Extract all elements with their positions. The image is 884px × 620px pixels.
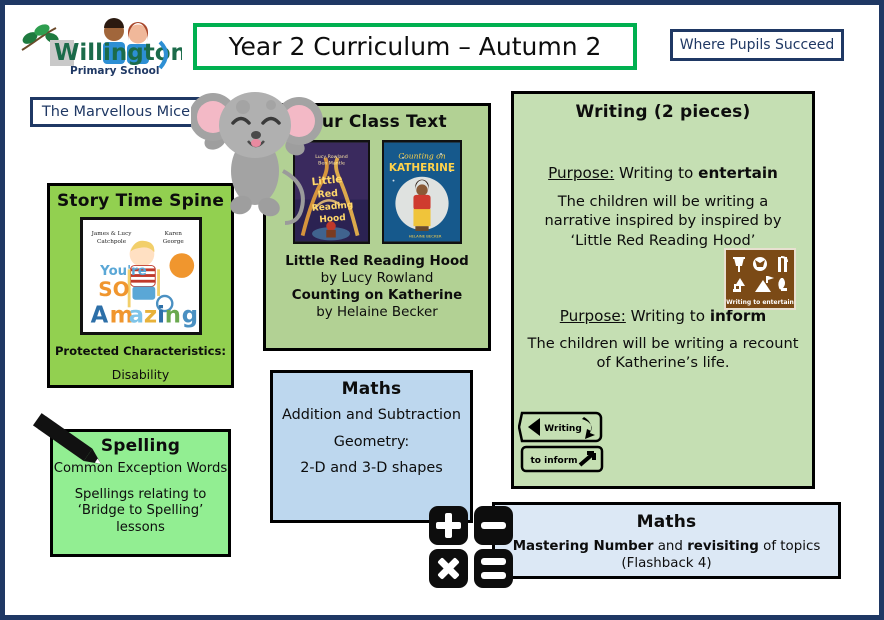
- writing-purpose-label-2: Purpose:: [560, 307, 626, 325]
- logo-subtitle: Primary School: [70, 65, 159, 77]
- maths-bottom-title: Maths: [495, 512, 838, 532]
- story-book-cover-wrap: James & Lucy Catchpole Karen George You'…: [50, 217, 231, 335]
- svg-text:George: George: [162, 239, 184, 245]
- book-cover-youre-so-amazing: James & Lucy Catchpole Karen George You'…: [80, 217, 202, 335]
- pencil-icon: [27, 413, 113, 475]
- maths-bottom-line-0: Mastering Number and revisiting of topic…: [495, 538, 838, 555]
- writing-purpose-label-1: Purpose:: [548, 164, 614, 182]
- panel-maths-middle: Maths Addition and Subtraction Geometry:…: [270, 370, 473, 523]
- maths-bottom-end: of topics: [759, 539, 820, 554]
- svg-text:SO: SO: [98, 278, 129, 301]
- curriculum-poster: Willington Primary School Year 2 Curricu…: [0, 0, 884, 620]
- spelling-line-1: Spellings relating to ‘Bridge to Spellin…: [53, 487, 228, 537]
- class-text-caption-line-0: Little Red Reading Hood: [266, 253, 488, 270]
- svg-text:You're: You're: [99, 264, 147, 279]
- writing-purpose-prefix-1: Writing to: [614, 164, 698, 182]
- writing-piece1-purpose: Purpose: Writing to entertain: [524, 164, 802, 182]
- svg-text:Karen: Karen: [164, 231, 182, 237]
- maths-bottom-bold-2: revisiting: [687, 539, 759, 554]
- maths-middle-line-2: 2-D and 3-D shapes: [273, 455, 470, 482]
- svg-text:i: i: [157, 303, 165, 329]
- protected-characteristics-label: Protected Characteristics:: [50, 344, 231, 358]
- school-logo-graphic: Willington Primary School: [14, 14, 182, 80]
- entertain-sign-caption: Writing to entertain: [726, 299, 794, 306]
- svg-text:Catchpole: Catchpole: [97, 239, 127, 245]
- svg-text:Counting on: Counting on: [398, 152, 445, 161]
- class-text-caption-line-3: by Helaine Becker: [266, 304, 488, 321]
- svg-text:A: A: [90, 303, 108, 329]
- calculator-keys-icon: [428, 505, 516, 588]
- maths-middle-title: Maths: [273, 379, 470, 399]
- class-name-box: The Marvellous Mice: [30, 97, 202, 127]
- maths-bottom-body: Mastering Number and revisiting of topic…: [495, 538, 838, 573]
- svg-text:HELAINE BECKER: HELAINE BECKER: [408, 234, 441, 239]
- writing-piece2-description: The children will be writing a recount o…: [524, 334, 802, 373]
- class-text-caption-line-1: by Lucy Rowland: [266, 270, 488, 287]
- writing-piece1-description: The children will be writing a narrative…: [524, 192, 802, 250]
- class-text-caption: Little Red Reading Hood by Lucy Rowland …: [266, 253, 488, 321]
- school-motto: Where Pupils Succeed: [680, 37, 835, 53]
- writing-to-entertain-sign-icon: Writing to entertain: [724, 248, 796, 310]
- writing-purpose-bold-1: entertain: [698, 164, 778, 182]
- class-name: The Marvellous Mice: [42, 104, 190, 120]
- maths-bottom-line-1: (Flashback 4): [495, 555, 838, 572]
- maths-bottom-bold-1: Mastering Number: [513, 539, 654, 554]
- maths-middle-line-0: Addition and Subtraction: [273, 402, 470, 429]
- svg-text:KATHERINE: KATHERINE: [388, 162, 454, 174]
- maths-bottom-mid: and: [653, 539, 687, 554]
- svg-text:z: z: [143, 303, 156, 329]
- inform-sign-line-1: Writing: [544, 424, 582, 434]
- svg-text:James & Lucy: James & Lucy: [90, 231, 132, 237]
- book-cover-counting-on-katherine: Counting on KATHERINE HELAINE BECKER: [382, 140, 462, 244]
- writing-to-inform-sign-icon: Writing to inform: [518, 409, 614, 475]
- school-logo: Willington Primary School: [13, 13, 183, 81]
- svg-text:a: a: [128, 303, 143, 329]
- class-text-caption-line-2: Counting on Katherine: [266, 287, 488, 304]
- inform-sign-line-2: to inform: [530, 456, 577, 466]
- school-motto-box: Where Pupils Succeed: [670, 29, 844, 61]
- protected-characteristics-value: Disability: [50, 367, 231, 382]
- writing-title: Writing (2 pieces): [524, 102, 802, 122]
- mouse-mascot: [191, 63, 323, 228]
- maths-middle-body: Addition and Subtraction Geometry: 2-D a…: [273, 402, 470, 482]
- page-title: Year 2 Curriculum – Autumn 2: [229, 32, 602, 61]
- svg-text:g: g: [181, 303, 197, 329]
- writing-purpose-prefix-2: Writing to: [626, 307, 710, 325]
- panel-maths-bottom: Maths Mastering Number and revisiting of…: [492, 502, 841, 579]
- svg-text:n: n: [164, 303, 180, 329]
- maths-middle-line-1: Geometry:: [273, 429, 470, 456]
